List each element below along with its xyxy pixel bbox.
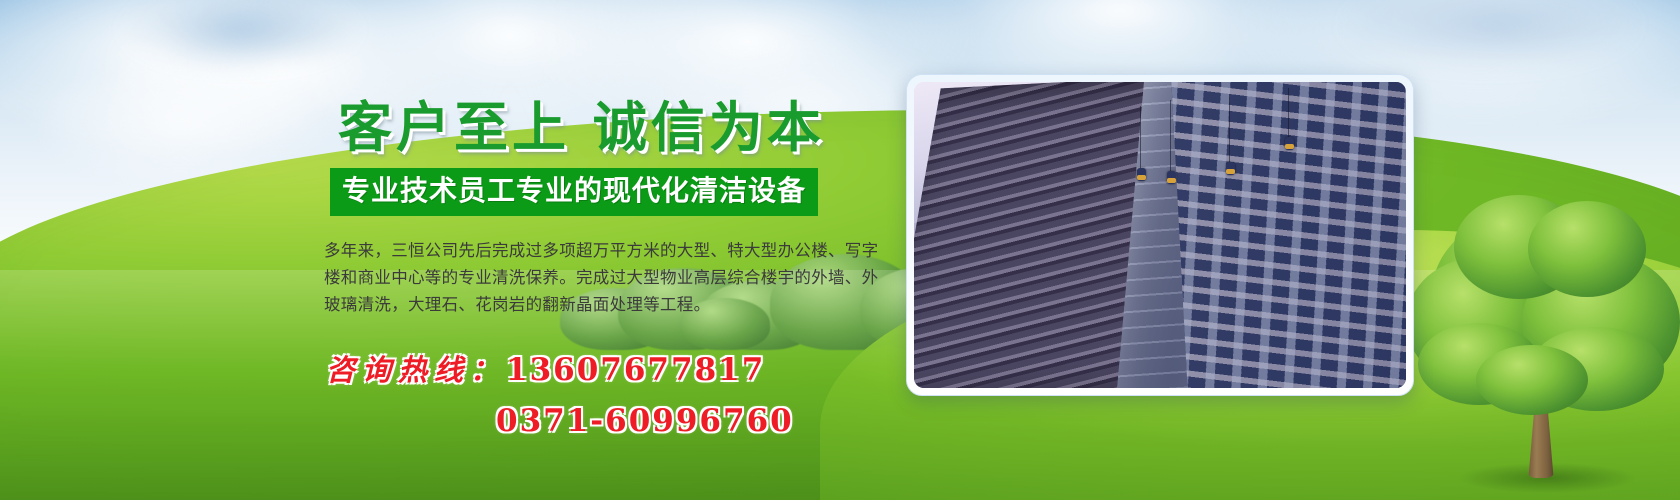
window-cleaner-worker [1137, 168, 1146, 181]
rope [1170, 100, 1171, 173]
hotline-mobile-number[interactable]: 13607677817 [506, 352, 765, 388]
building-photo-card[interactable] [906, 74, 1414, 396]
hotline-landline-number[interactable]: 0371-60996760 [496, 403, 910, 439]
tagline-bar: 专业技术员工专业的现代化清洁设备 [330, 168, 818, 216]
banner-copy: 客户至上 诚信为本 专业技术员工专业的现代化清洁设备 多年来，三恒公司先后完成过… [320, 96, 910, 439]
promo-banner: 客户至上 诚信为本 专业技术员工专业的现代化清洁设备 多年来，三恒公司先后完成过… [0, 0, 1680, 500]
headline: 客户至上 诚信为本 [338, 96, 910, 158]
building-photo [914, 82, 1406, 388]
rope [1140, 106, 1141, 173]
tree-illustration [1398, 195, 1680, 485]
window-cleaner-worker [1226, 162, 1235, 175]
description-paragraph: 多年来，三恒公司先后完成过多项超万平方米的大型、特大型办公楼、写字楼和商业中心等… [324, 238, 884, 319]
hotline-label: 咨询热线： [326, 353, 506, 387]
window-cleaner-worker [1285, 137, 1294, 150]
hotline-row[interactable]: 咨询热线：13607677817 [326, 347, 910, 389]
window-cleaner-worker [1167, 171, 1176, 184]
